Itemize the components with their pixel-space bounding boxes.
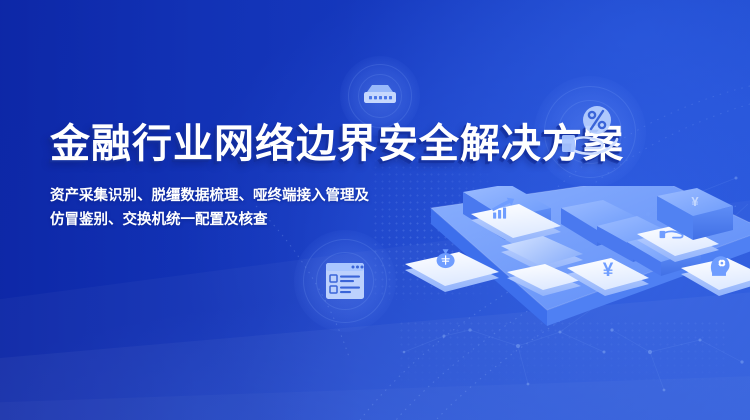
percent-hand-icon: [559, 103, 621, 161]
promotional-banner: 金融行业网络边界安全解决方案 资产采集识别、脱缰数据梳理、哑终端接入管理及 仿冒…: [0, 0, 750, 420]
banner-subtitle: 资产采集识别、脱缰数据梳理、哑终端接入管理及 仿冒鉴别、交换机统一配置及核查: [50, 184, 369, 232]
network-switch-icon: [359, 81, 401, 111]
document-list-icon: [324, 261, 366, 301]
isometric-platform-illustration: ¥: [385, 186, 750, 346]
subtitle-line-2: 仿冒鉴别、交换机统一配置及核查: [50, 208, 369, 232]
yen-block-symbol: ¥: [691, 194, 699, 209]
banner-headline: 金融行业网络边界安全解决方案: [50, 124, 624, 164]
yen-tile-symbol: ¥: [603, 260, 614, 281]
orb-document-list: [294, 230, 396, 332]
subtitle-line-1: 资产采集识别、脱缰数据梳理、哑终端接入管理及: [50, 184, 369, 208]
isometric-scene-svg: ¥: [385, 186, 750, 356]
